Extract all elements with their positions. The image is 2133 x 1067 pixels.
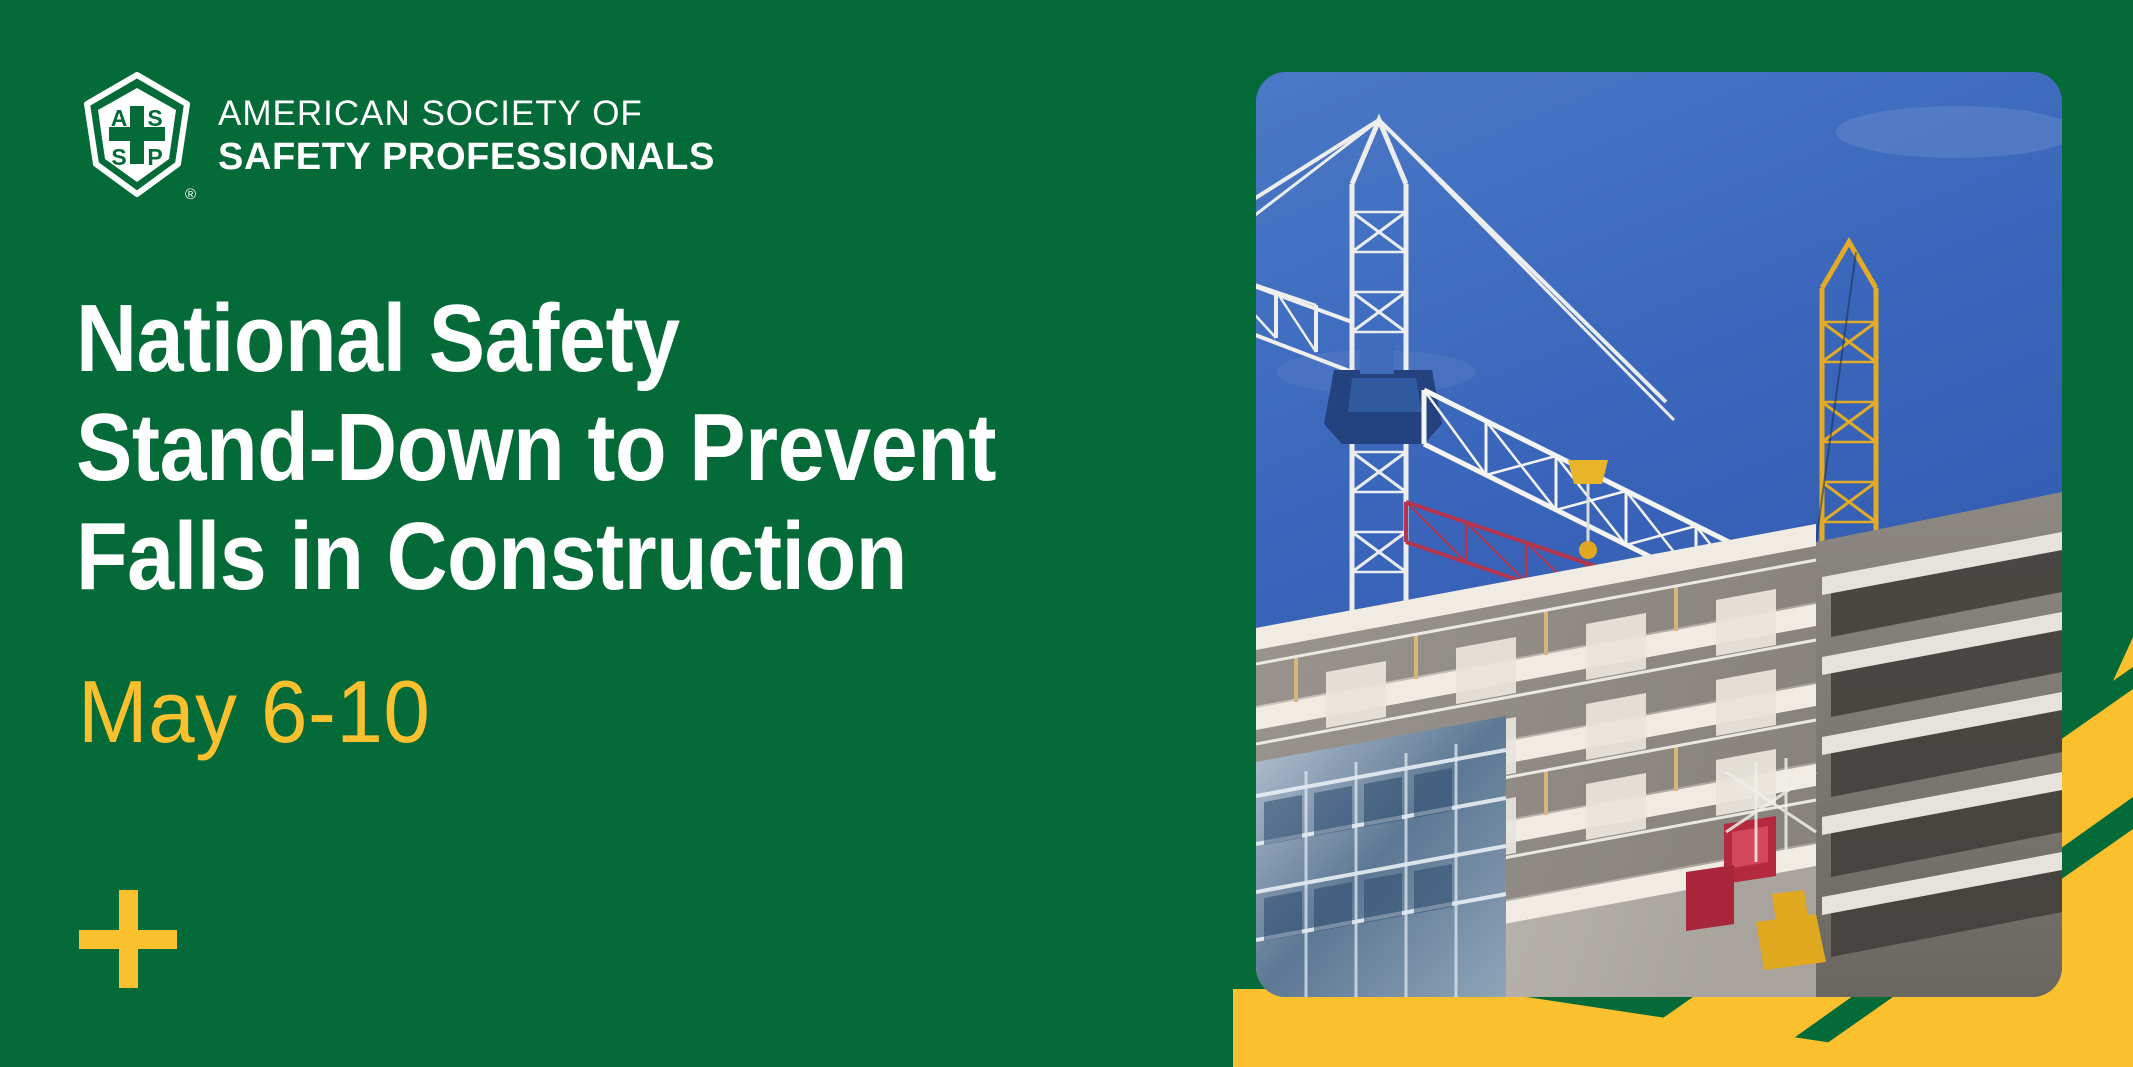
svg-text:S: S bbox=[111, 144, 126, 170]
svg-text:A: A bbox=[111, 105, 128, 131]
promo-banner: A S S P ® AMERICAN SOCIETY OF SAFETY PRO… bbox=[0, 0, 2133, 1067]
headline-line-3: Falls in Construction bbox=[76, 503, 1062, 612]
assp-logo-lockup[interactable]: A S S P ® AMERICAN SOCIETY OF SAFETY PRO… bbox=[82, 72, 715, 200]
plus-icon bbox=[79, 890, 177, 988]
logo-wordmark-line2: SAFETY PROFESSIONALS bbox=[218, 135, 715, 179]
construction-site-photo bbox=[1256, 72, 2062, 997]
svg-text:S: S bbox=[147, 105, 162, 131]
logo-wordmark: AMERICAN SOCIETY OF SAFETY PROFESSIONALS bbox=[218, 93, 715, 178]
headline-line-1: National Safety bbox=[76, 285, 1062, 394]
headline-line-2: Stand-Down to Prevent bbox=[76, 394, 1062, 503]
registered-trademark-icon: ® bbox=[185, 187, 196, 202]
event-date: May 6-10 bbox=[78, 664, 430, 761]
page-title: National Safety Stand-Down to Prevent Fa… bbox=[76, 285, 1062, 612]
assp-shield-icon: A S S P ® bbox=[82, 72, 192, 200]
svg-text:P: P bbox=[147, 144, 162, 170]
plus-icon-horizontal-bar bbox=[79, 930, 177, 949]
logo-wordmark-line1: AMERICAN SOCIETY OF bbox=[218, 93, 715, 134]
